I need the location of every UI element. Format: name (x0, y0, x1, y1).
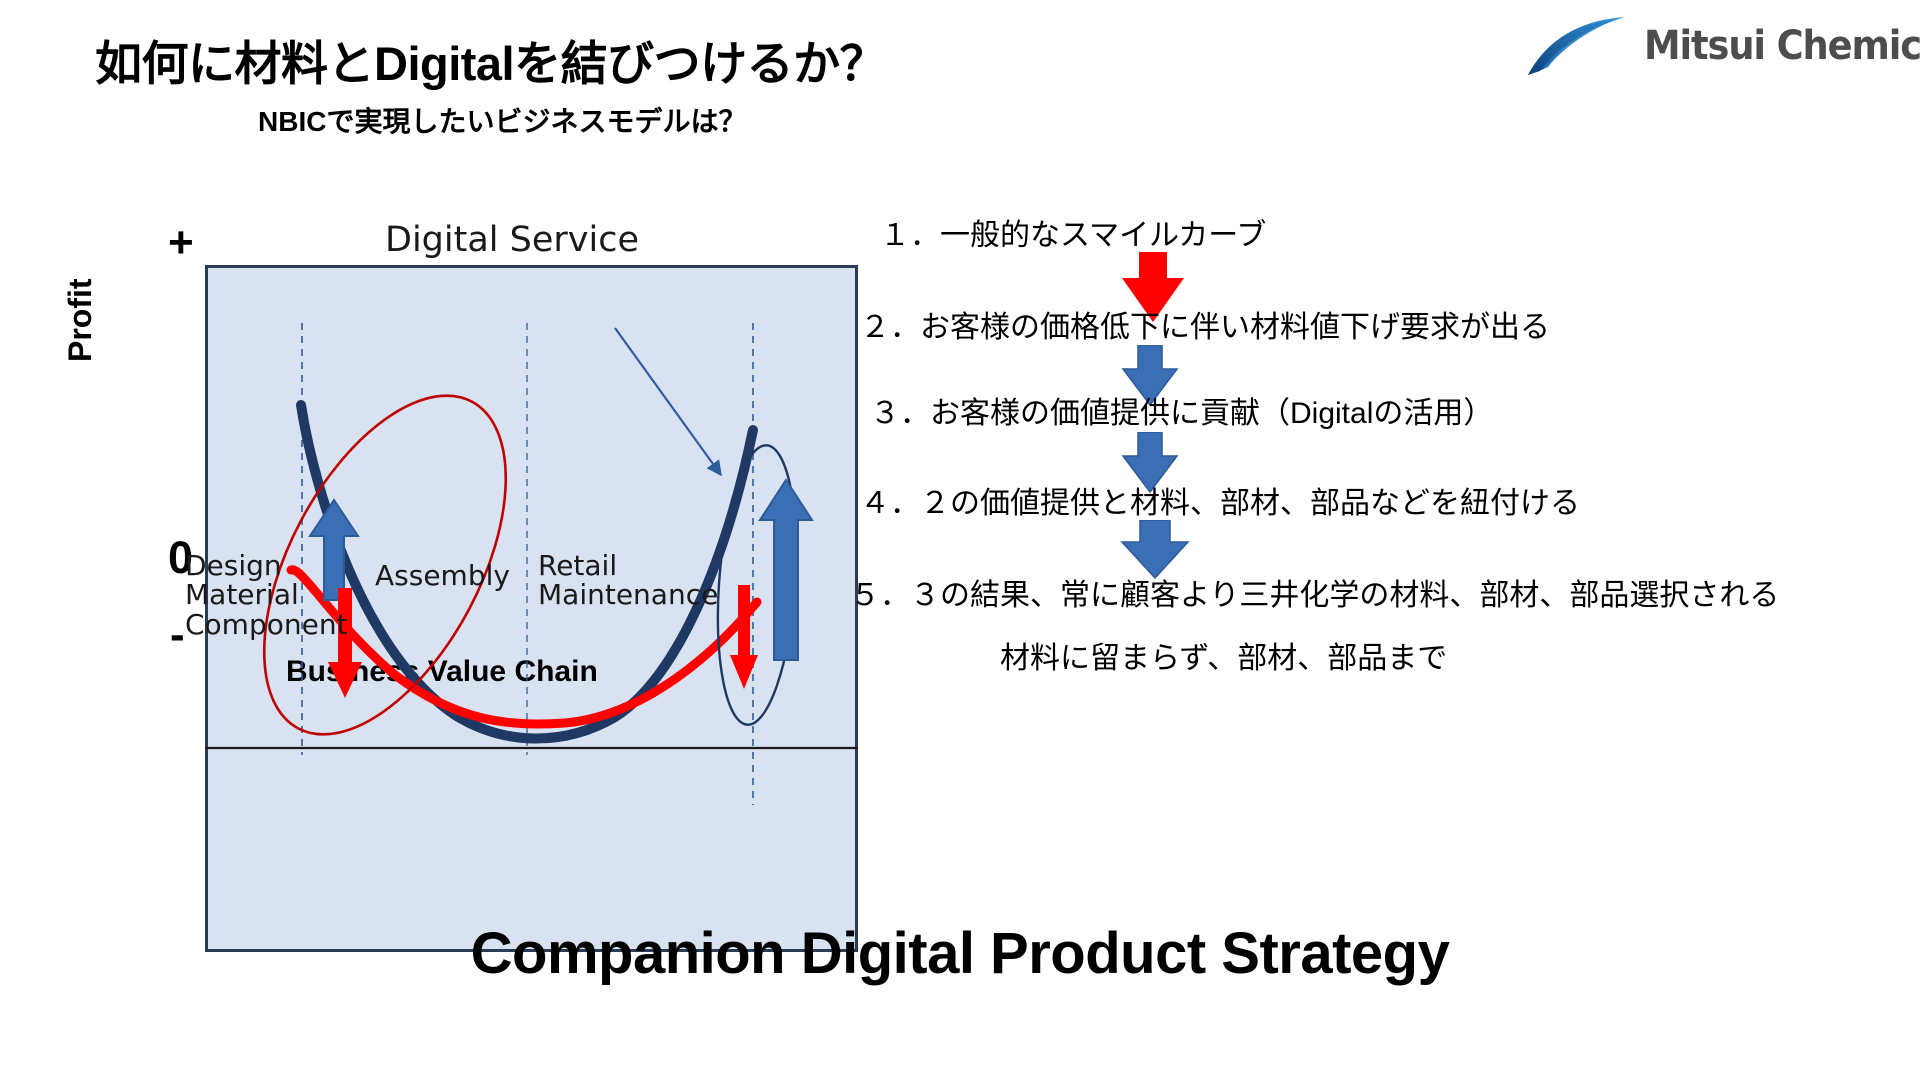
process-steps-list: １．一般的なスマイルカーブ ２．お客様の価格低下に伴い材料値下げ要求が出る ３．… (860, 190, 1920, 690)
digital-service-arrow (615, 328, 721, 475)
category-label-assembly: Assembly (375, 561, 510, 590)
y-axis-label: Profit (62, 278, 99, 362)
logo-wordmark: Mitsui Chemicals (1644, 23, 1920, 69)
category-label-retail: Retail Maintenance (538, 551, 718, 610)
category-label-design: Design Material Component (185, 551, 348, 639)
step-item-4: ４．２の価値提供と材料、部材、部品などを紐付ける (860, 478, 1580, 522)
footer-title: Companion Digital Product Strategy (0, 920, 1920, 987)
page-title: 如何に材料とDigitalを結びつけるか？ (95, 25, 886, 94)
y-axis-plus-mark: + (168, 218, 194, 268)
step-item-1: １．一般的なスマイルカーブ (880, 210, 1266, 254)
step-item-5: ５．３の結果、常に顧客より三井化学の材料、部材、部品選択される (850, 570, 1779, 614)
y-axis-minus-mark: - (170, 610, 185, 660)
digital-service-annotation: Digital Service (385, 222, 639, 259)
mitsui-wave-icon (1526, 15, 1630, 77)
step-item-2: ２．お客様の価格低下に伴い材料値下げ要求が出る (860, 302, 1550, 346)
company-logo: Mitsui Chemicals (1526, 10, 1906, 82)
smile-curve-chart: + 0 - Profit Business Value Chain (0, 180, 900, 880)
step-item-3: ３．お客様の価値提供に貢献（Digitalの活用） (870, 388, 1493, 432)
right-up-arrow (760, 480, 812, 660)
step-item-5-tail: 材料に留まらず、部材、部品まで (1000, 633, 1447, 677)
page-subtitle: NBICで実現したいビジネスモデルは？ (258, 100, 746, 140)
